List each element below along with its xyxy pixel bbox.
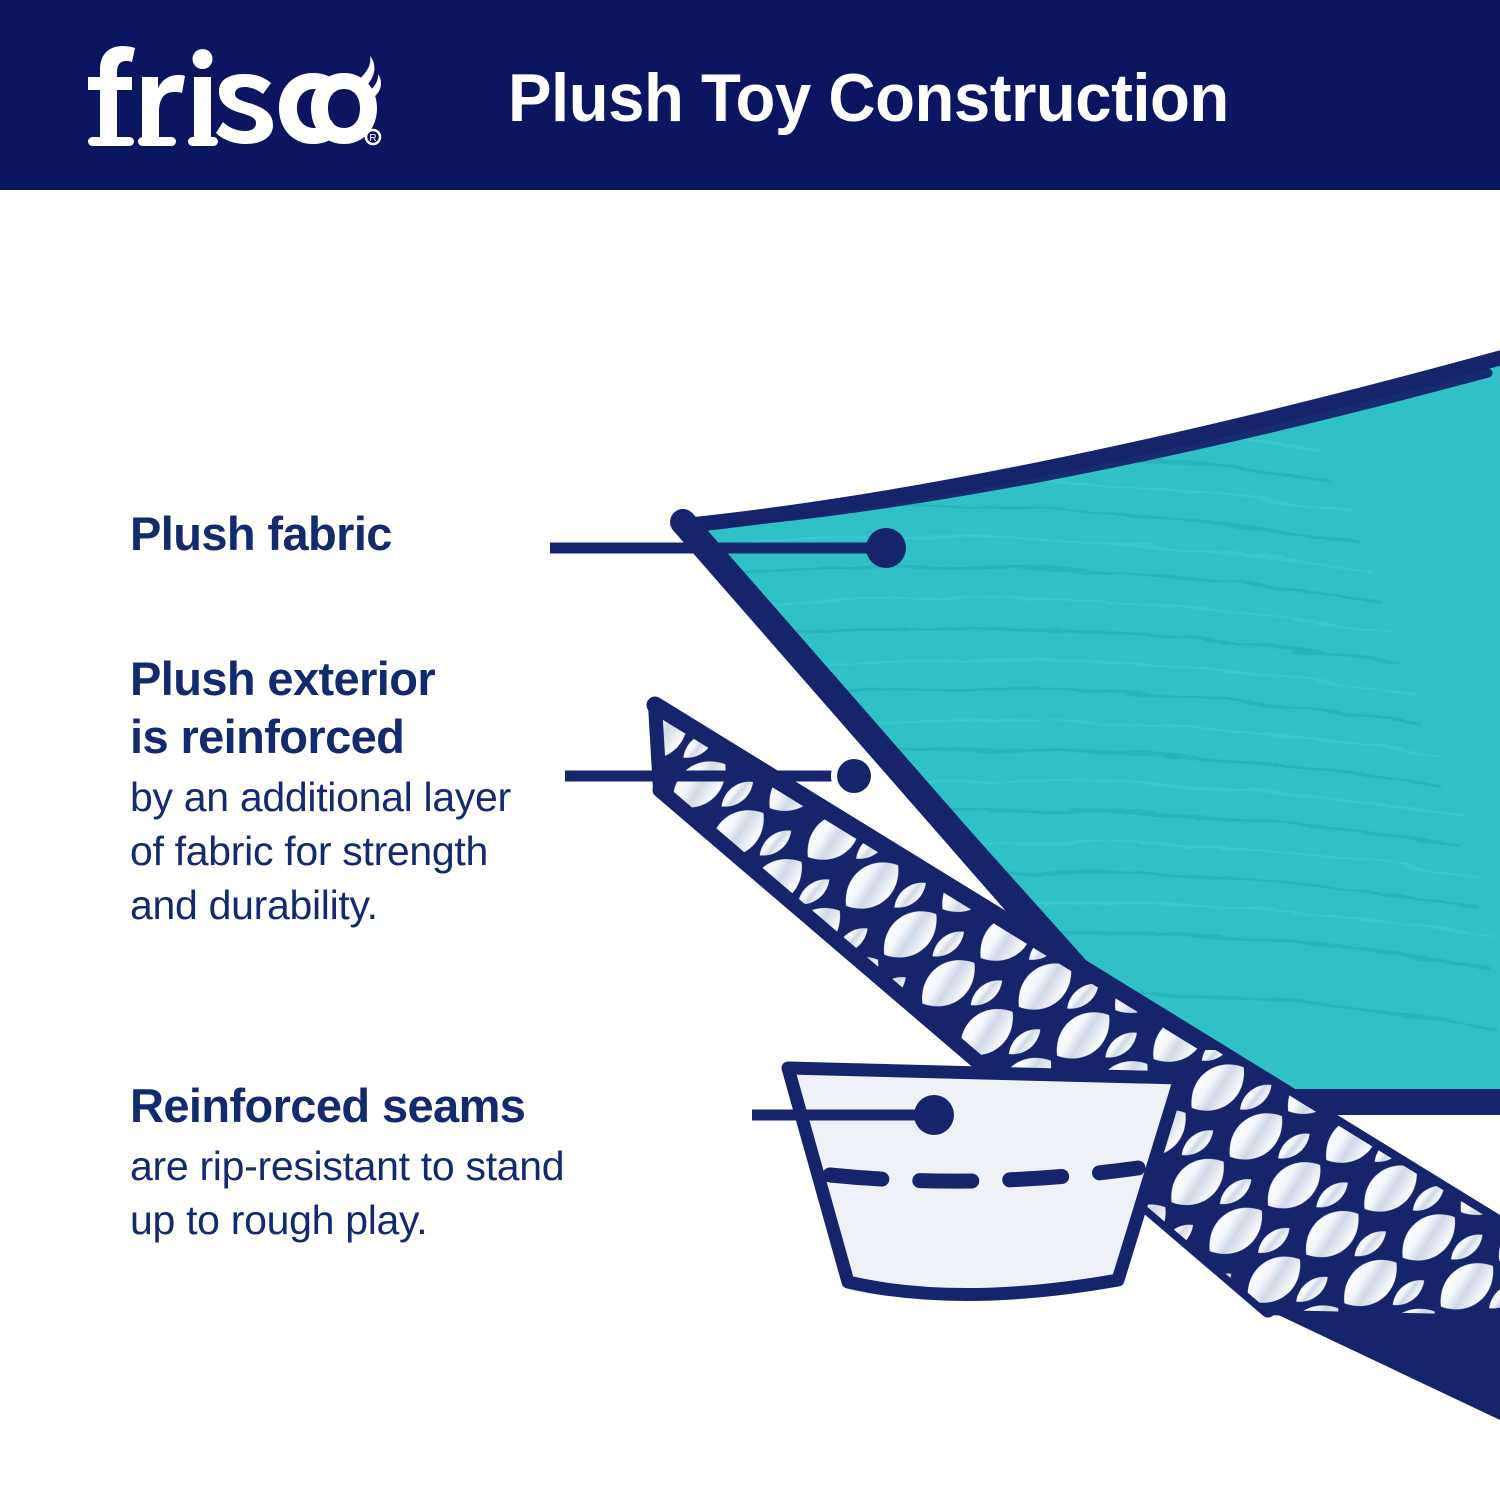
callout-plush-exterior-heading: Plush exterior is reinforced [130,650,730,766]
callout-reinforced-seams-heading: Reinforced seams [130,1077,790,1135]
frisco-wordmark-logo: R [82,44,382,148]
svg-text:R: R [369,133,376,144]
callout-plush-fabric-heading: Plush fabric [130,505,600,563]
callout-dot-plush-fabric [866,528,906,568]
callout-plush-exterior: Plush exterior is reinforced by an addit… [130,650,730,932]
callout-reinforced-seams: Reinforced seams are rip-resistant to st… [130,1077,790,1247]
callout-reinforced-seams-body: are rip-resistant to stand up to rough p… [130,1139,790,1247]
callout-plush-exterior-body: by an additional layer of fabric for str… [130,770,730,932]
infographic-page: R Plush Toy Construction [0,0,1500,1500]
reinforced-seam-flap [788,1068,1180,1295]
page-title: Plush Toy Construction [508,50,1229,146]
callout-dot-plush-exterior [837,759,871,793]
header-bar: R Plush Toy Construction [0,0,1500,190]
callout-plush-fabric: Plush fabric [130,505,600,563]
callout-dot-reinforced-seams [914,1095,954,1135]
frisco-logo-svg: R [82,44,382,148]
